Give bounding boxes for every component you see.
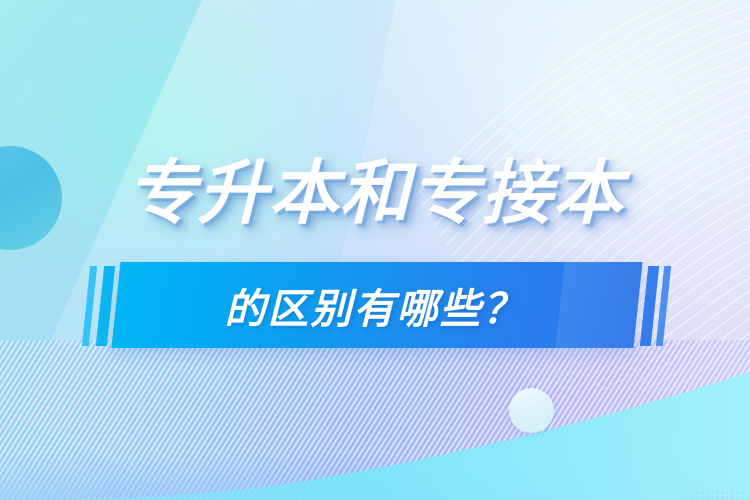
- promo-banner: 专升本和专接本 的区别有哪些？: [0, 0, 750, 500]
- page-title: 专升本和专接本: [0, 158, 750, 228]
- circle-right-decoration: [509, 388, 554, 433]
- page-subtitle: 的区别有哪些？: [0, 262, 750, 348]
